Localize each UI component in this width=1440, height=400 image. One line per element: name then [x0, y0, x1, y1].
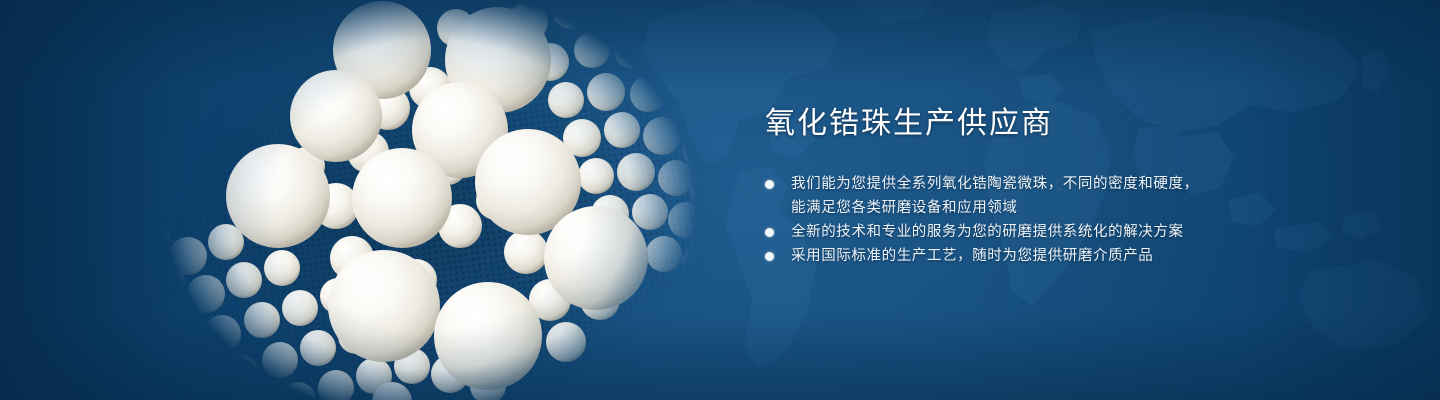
list-item: 采用国际标准的生产工艺，随时为您提供研磨介质产品 — [765, 244, 1365, 268]
page-title: 氧化锆珠生产供应商 — [765, 104, 1365, 144]
bullet-dot-icon — [765, 252, 774, 261]
list-item-line1: 采用国际标准的生产工艺，随时为您提供研磨介质产品 — [791, 248, 1153, 264]
zirconia-beads-photo — [130, 0, 730, 400]
feature-list: 我们能为您提供全系列氧化锆陶瓷微珠，不同的密度和硬度， 能满足您各类研磨设备和应… — [765, 172, 1365, 268]
list-item-line2: 能满足您各类研磨设备和应用领域 — [791, 196, 1365, 220]
list-item: 全新的技术和专业的服务为您的研磨提供系统化的解决方案 — [765, 220, 1365, 244]
banner-copy: 氧化锆珠生产供应商 我们能为您提供全系列氧化锆陶瓷微珠，不同的密度和硬度， 能满… — [765, 104, 1365, 268]
bullet-dot-icon — [765, 180, 774, 189]
list-item: 我们能为您提供全系列氧化锆陶瓷微珠，不同的密度和硬度， 能满足您各类研磨设备和应… — [765, 172, 1365, 220]
bullet-dot-icon — [765, 228, 774, 237]
list-item-line1: 全新的技术和专业的服务为您的研磨提供系统化的解决方案 — [791, 224, 1184, 240]
hero-banner: 氧化锆珠生产供应商 我们能为您提供全系列氧化锆陶瓷微珠，不同的密度和硬度， 能满… — [0, 0, 1440, 400]
list-item-line1: 我们能为您提供全系列氧化锆陶瓷微珠，不同的密度和硬度， — [791, 176, 1199, 192]
